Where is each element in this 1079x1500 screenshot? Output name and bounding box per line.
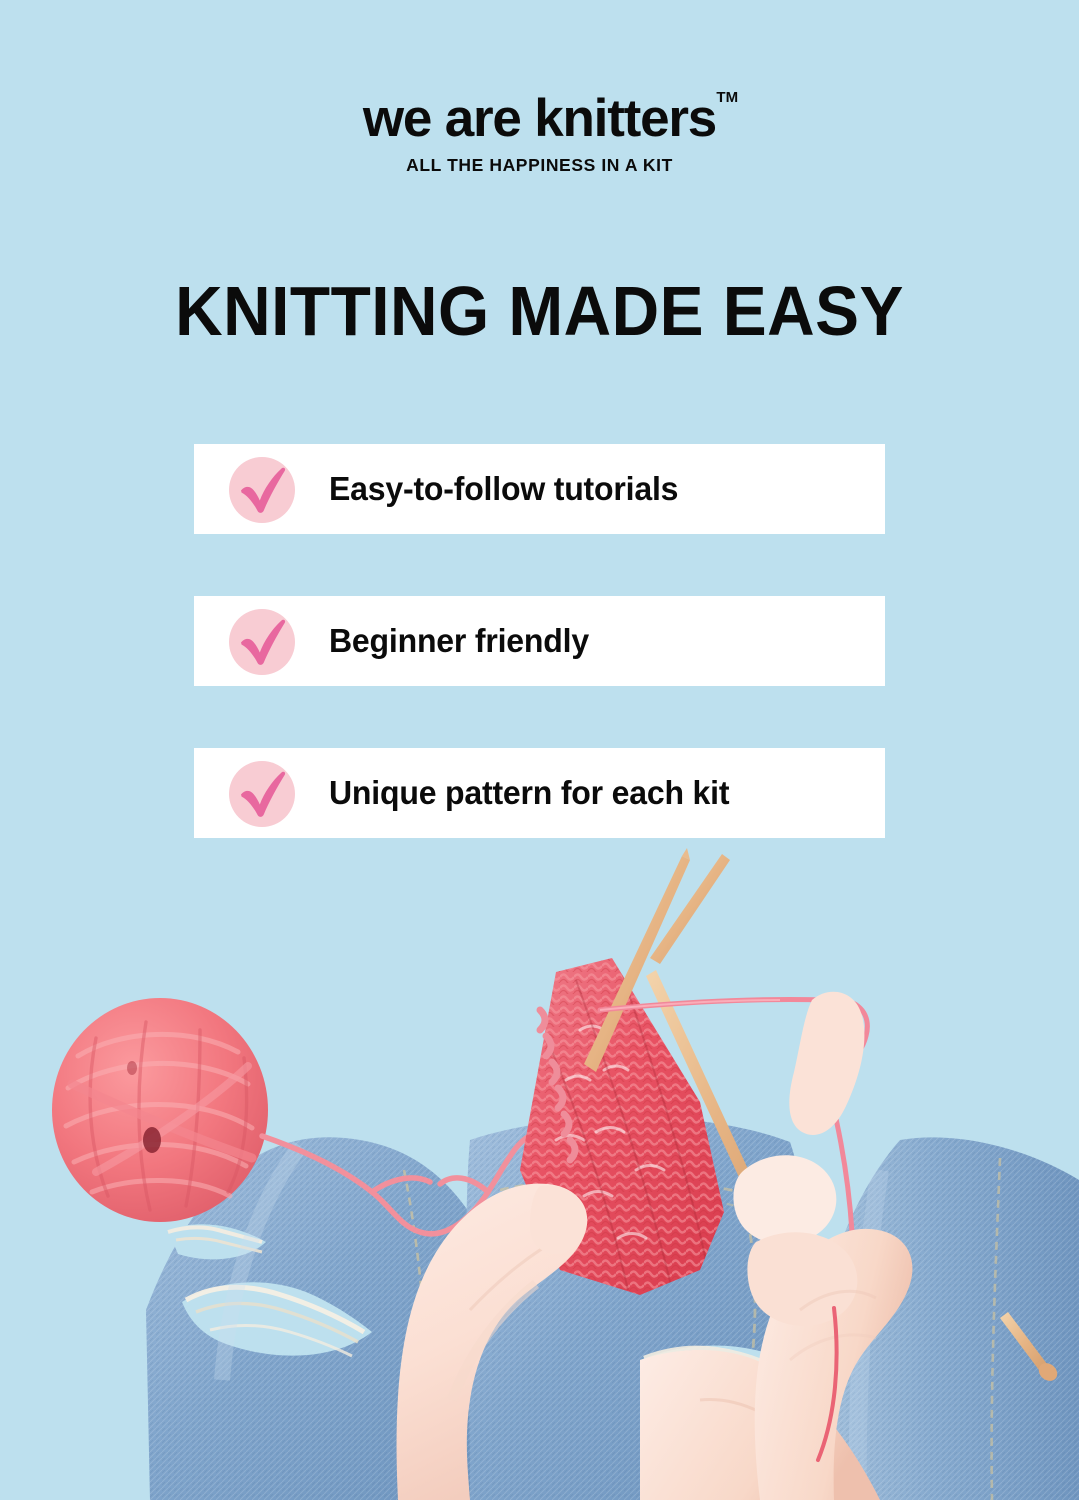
check-icon <box>225 604 299 678</box>
check-icon <box>225 452 299 526</box>
page-title: KNITTING MADE EASY <box>32 271 1046 351</box>
feature-label: Easy-to-follow tutorials <box>329 470 678 508</box>
brand-logo: we are knitters TM ALL THE HAPPINESS IN … <box>0 92 1079 176</box>
feature-card-tutorials: Easy-to-follow tutorials <box>194 444 885 534</box>
brand-name-text: we are knitters <box>363 89 716 148</box>
feature-card-beginner: Beginner friendly <box>194 596 885 686</box>
brand-tagline: ALL THE HAPPINESS IN A KIT <box>0 155 1079 176</box>
yarn-ball <box>52 998 268 1222</box>
brand-name: we are knitters TM <box>363 92 716 146</box>
feature-label: Beginner friendly <box>329 622 589 660</box>
trademark-icon: TM <box>716 90 738 105</box>
feature-card-pattern: Unique pattern for each kit <box>194 748 885 838</box>
feature-list: Easy-to-follow tutorials Beginner friend… <box>194 444 885 838</box>
hero-photo <box>0 840 1079 1500</box>
check-icon <box>225 756 299 830</box>
feature-label: Unique pattern for each kit <box>329 774 729 812</box>
